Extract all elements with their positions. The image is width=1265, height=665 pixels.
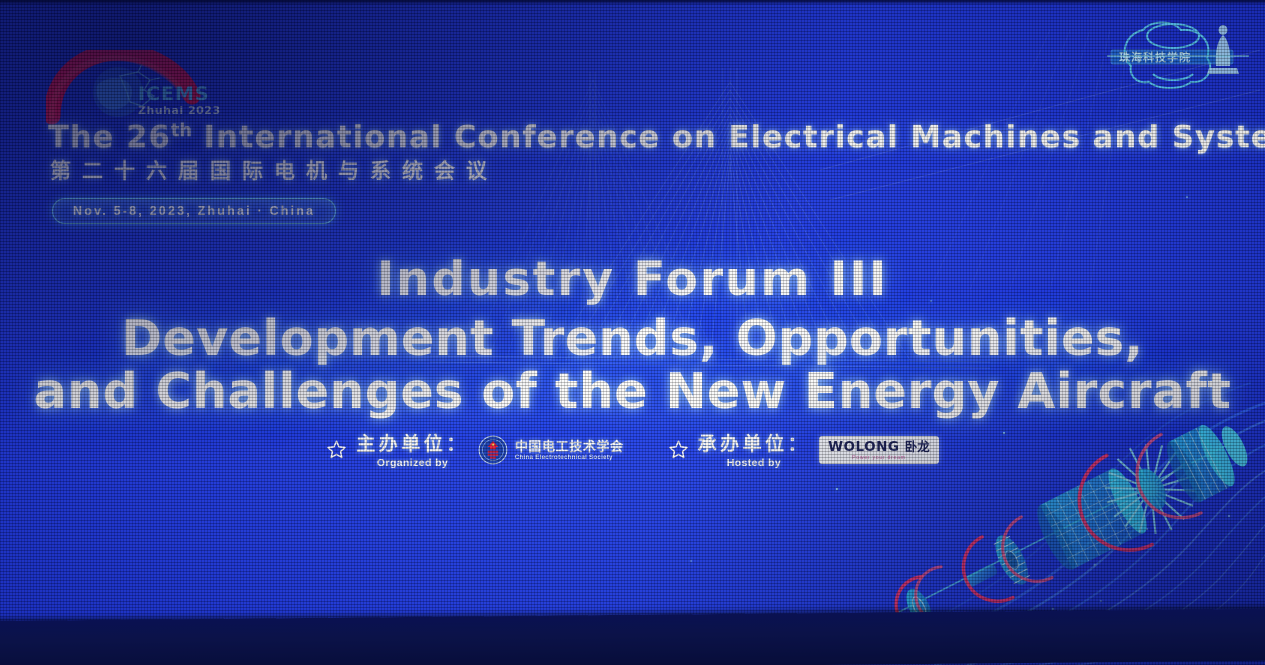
conference-title-en: The 26th International Conference on Ele… [48,120,1265,155]
icems-location-year: Zhuhai 2023 [138,104,221,117]
icems-acronym: ICEMS [138,83,210,105]
wolong-name-en: WOLONG [828,439,899,455]
zhuhai-city-emblem-icon: 珠海科技学院 [1103,12,1253,94]
wolong-tagline: Power your dream [828,455,930,462]
forum-title-line-2: and Challenges of the New Energy Aircraf… [0,365,1265,419]
sponsors-row: 主办单位： Organized by [0,434,1265,470]
organizer-role-cn: 主办单位： [356,434,469,456]
conference-date-location-pill: Nov. 5-8, 2023, Zhuhai · China [52,198,336,224]
forum-title-line-1: Development Trends, Opportunities, [0,313,1265,365]
ces-name-cn: 中国电工技术学会 [515,439,624,454]
wolong-name-cn: 卧龙 [905,439,930,454]
screen-top-edge [0,0,1265,5]
star-outline-icon [326,439,347,460]
ces-name-en: China Electrotechnical Society [515,454,624,462]
conference-title-ordinal-sup: th [171,121,192,141]
host-role-en: Hosted by [698,457,811,470]
led-screen: ICEMS Zhuhai 2023 The 26th International… [0,0,1265,665]
conference-title-en-pre: The 26 [48,120,171,155]
ces-logo-block: 中国电工技术学会 China Electrotechnical Society [478,435,624,465]
icems-logo: ICEMS Zhuhai 2023 [46,50,246,128]
forum-label: Industry Forum III [0,252,1265,307]
zhuhai-emblem-text: 珠海科技学院 [1119,50,1191,64]
wolong-logo-icon: WOLONG 卧龙 Power your dream [819,436,939,464]
ces-emblem-icon [478,435,508,465]
forum-title: Development Trends, Opportunities, and C… [0,313,1265,419]
conference-title-en-post: International Conference on Electrical M… [192,120,1265,155]
organizer-role-en: Organized by [356,457,469,470]
star-outline-icon [668,439,689,460]
host-role-cn: 承办单位： [698,434,811,456]
sponsor-host: 承办单位： Hosted by WOLONG 卧龙 Power your dre… [668,434,939,470]
conference-title-cn: 第二十六届国际电机与系统会议 [50,155,498,185]
photo-of-stage-screen: ICEMS Zhuhai 2023 The 26th International… [0,0,1265,665]
sponsor-organizer: 主办单位： Organized by [326,434,623,470]
